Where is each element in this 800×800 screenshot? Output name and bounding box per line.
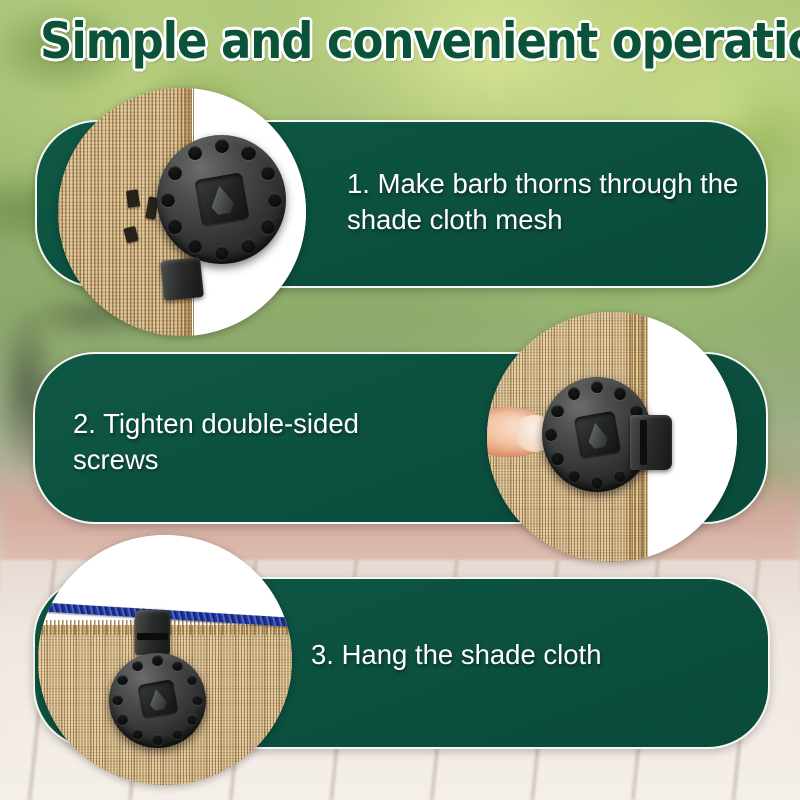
photo-1-screw-knob — [157, 135, 286, 264]
step-1-text: 1. Make barb thorns through the shade cl… — [347, 166, 767, 239]
photo-1-knob-center-recess — [194, 172, 249, 227]
step-3-photo — [38, 535, 292, 785]
photo-1-clip-bracket — [160, 257, 204, 301]
step-1-photo — [58, 88, 306, 336]
photo-2-bracket-slot — [640, 420, 648, 465]
photo-2-clip-bracket — [630, 415, 673, 470]
photo-3-knob-center-recess — [137, 679, 178, 720]
photo-2-knob-center-recess — [573, 411, 620, 460]
photo-3-bracket-slot — [137, 633, 167, 641]
step-2-photo — [487, 312, 737, 562]
step-3-text: 3. Hang the shade cloth — [311, 637, 731, 673]
photo-3-screw-knob — [109, 653, 206, 748]
step-2-text: 2. Tighten double-sided screws — [73, 406, 473, 479]
page-title: Simple and convenient operation — [40, 16, 760, 66]
